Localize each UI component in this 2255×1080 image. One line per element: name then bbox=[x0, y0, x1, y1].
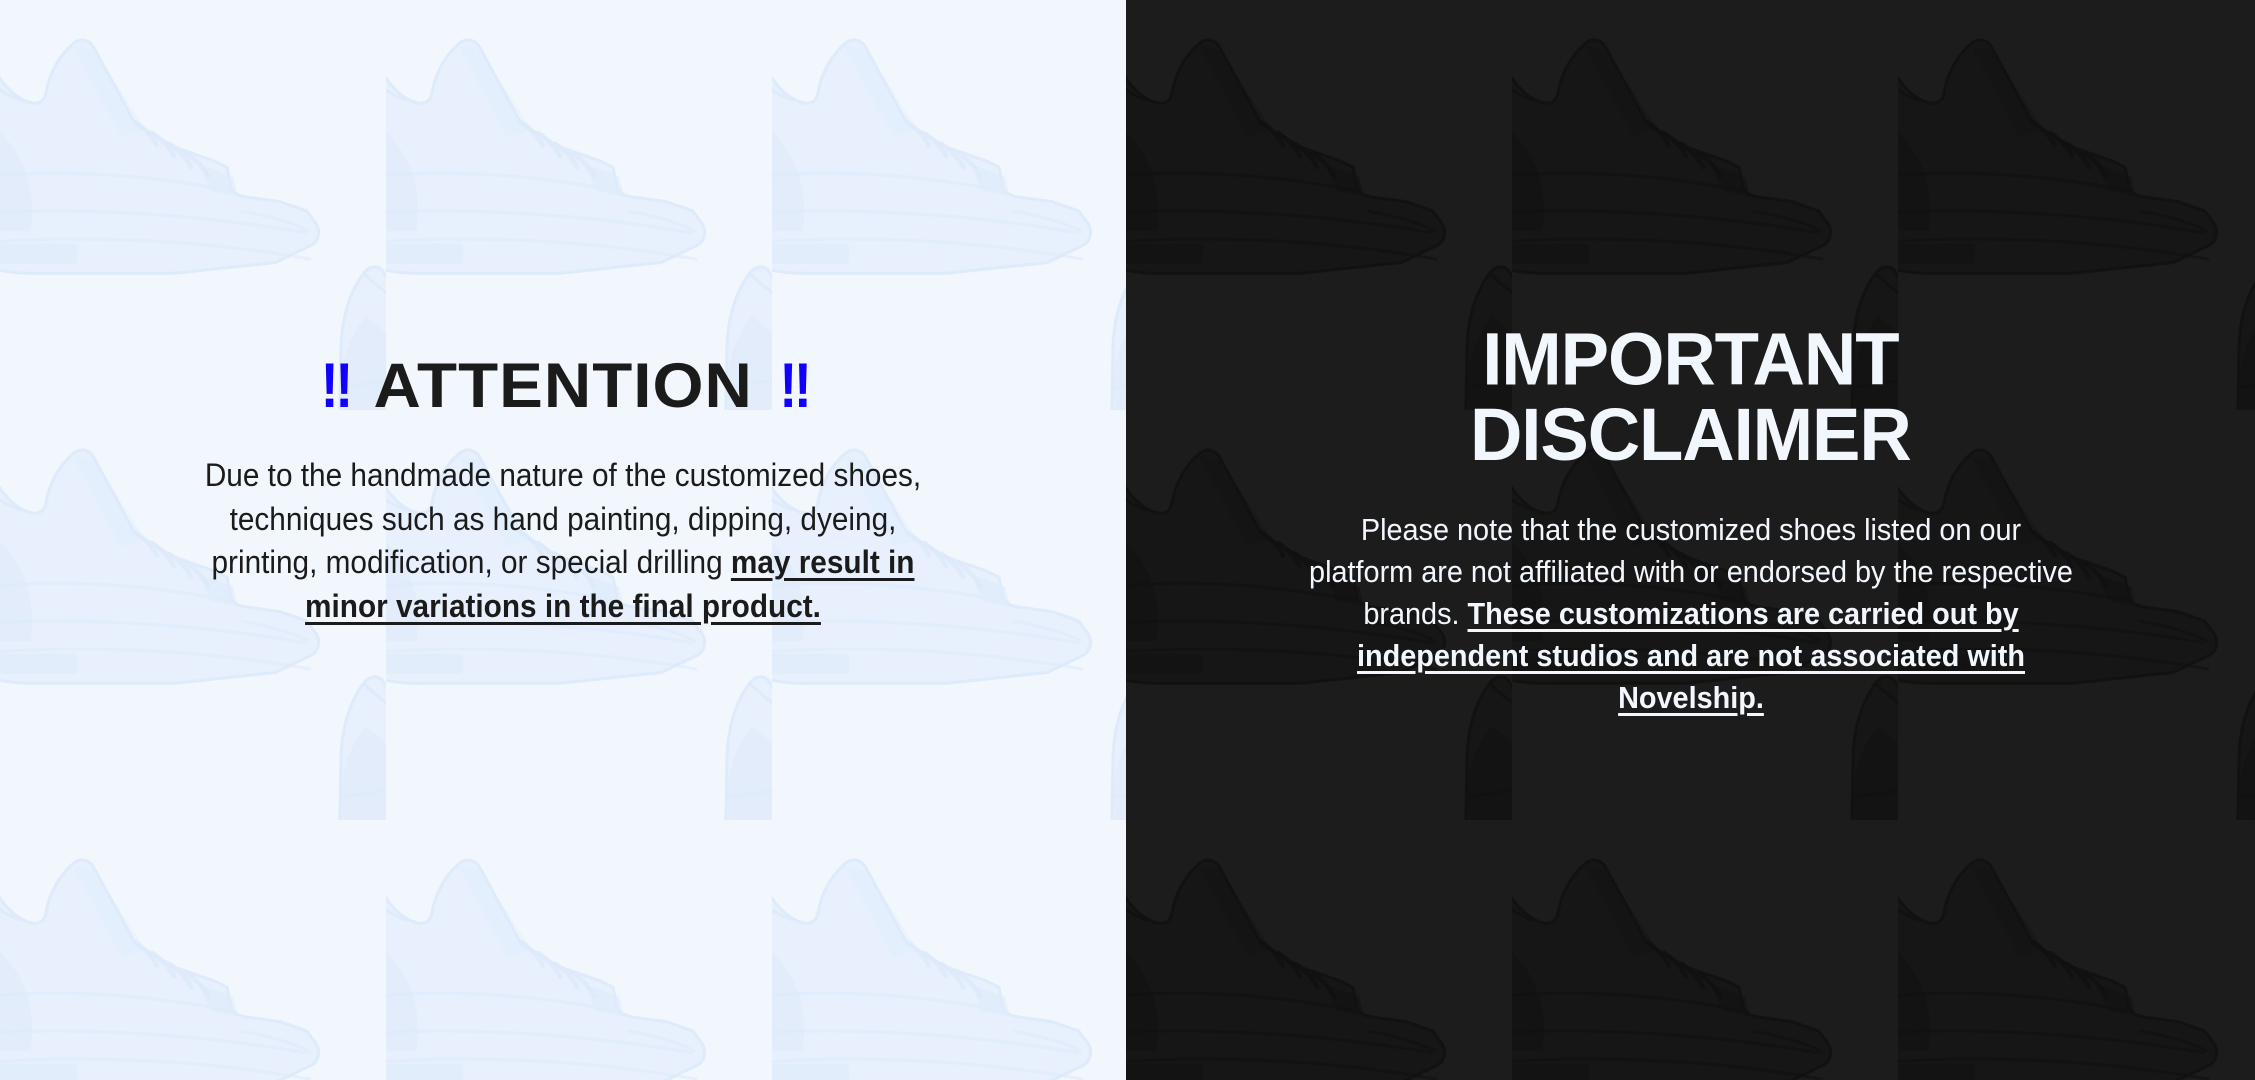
disclaimer-heading-line2: DISCLAIMER bbox=[1470, 397, 1911, 472]
important-disclaimer-panel: IMPORTANT DISCLAIMER Please note that th… bbox=[1126, 0, 2255, 1080]
disclaimer-content: IMPORTANT DISCLAIMER Please note that th… bbox=[1126, 0, 2255, 719]
attention-heading-word: ATTENTION bbox=[373, 357, 752, 416]
attention-heading: ‼ ATTENTION ‼ bbox=[319, 357, 806, 416]
double-exclamation-icon-right: ‼ bbox=[779, 357, 806, 416]
disclaimer-body: Please note that the customized shoes li… bbox=[1305, 509, 2077, 720]
double-exclamation-icon-left: ‼ bbox=[321, 357, 348, 416]
attention-body: Due to the handmade nature of the custom… bbox=[182, 454, 945, 628]
attention-content: ‼ ATTENTION ‼ Due to the handmade nature… bbox=[0, 0, 1126, 628]
attention-panel: ‼ ATTENTION ‼ Due to the handmade nature… bbox=[0, 0, 1126, 1080]
split-disclaimer-banner: ‼ ATTENTION ‼ Due to the handmade nature… bbox=[0, 0, 2255, 1080]
disclaimer-heading-line1: IMPORTANT bbox=[1470, 322, 1911, 397]
disclaimer-heading: IMPORTANT DISCLAIMER bbox=[1470, 322, 1911, 473]
